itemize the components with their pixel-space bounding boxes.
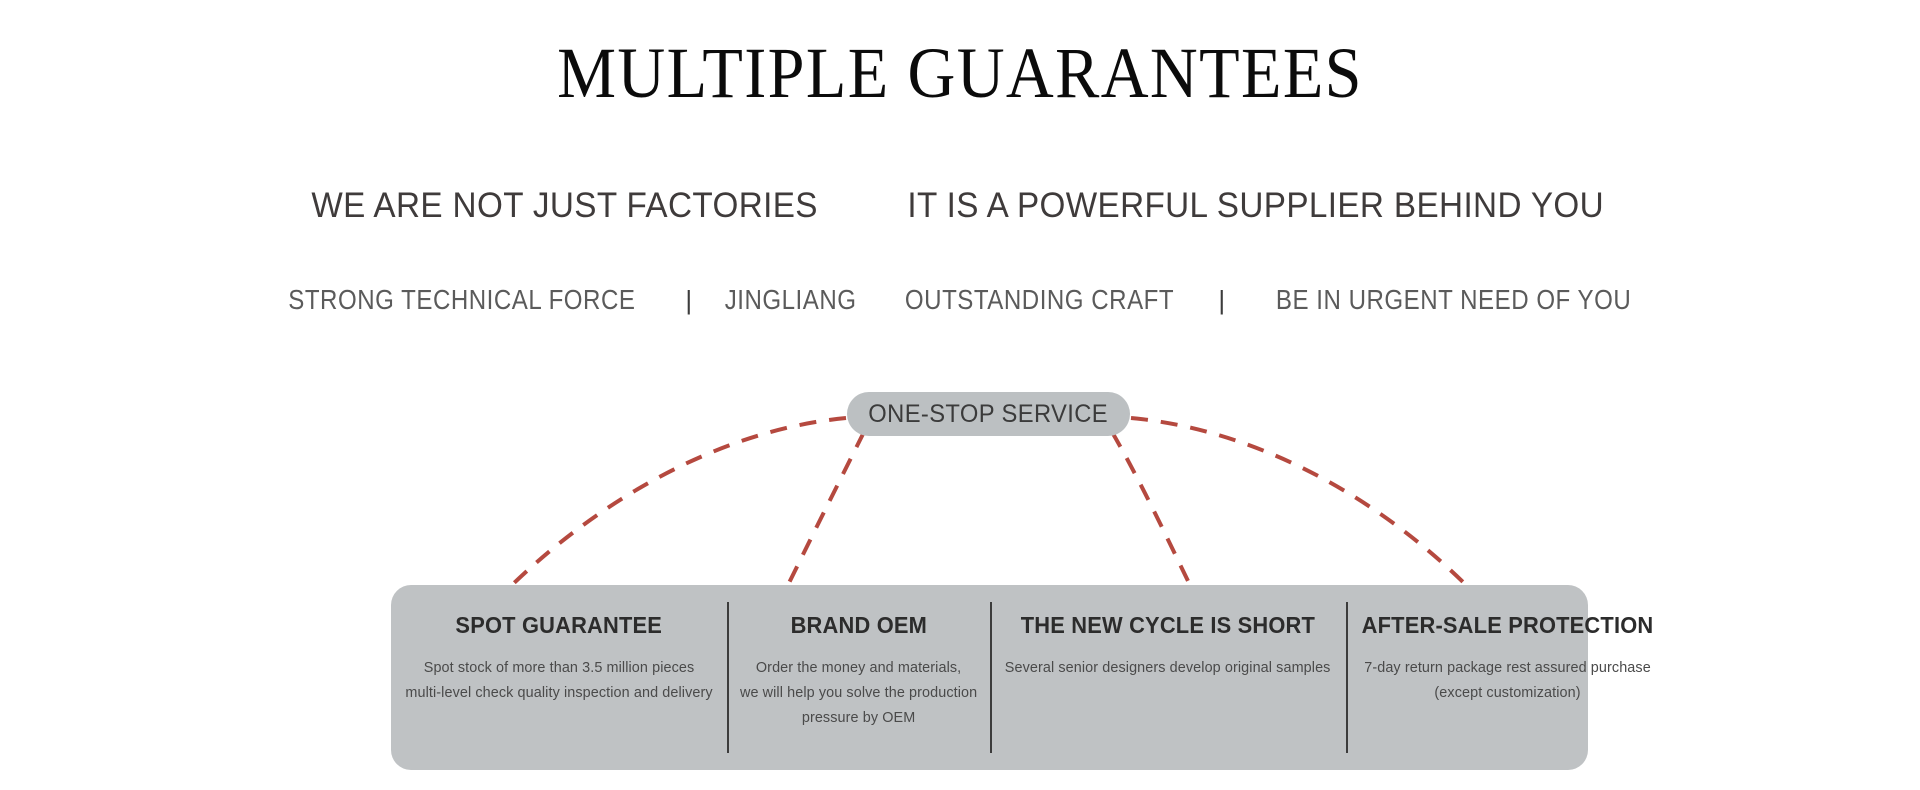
connector-path-2 — [788, 432, 864, 585]
column-body: Order the money and materials, we will h… — [735, 655, 982, 730]
guarantee-column-after-sale: AFTER-SALE PROTECTION 7-day return packa… — [1346, 585, 1669, 770]
column-body: Several senior designers develop origina… — [998, 655, 1337, 680]
column-body-line: Spot stock of more than 3.5 million piec… — [405, 655, 712, 680]
guarantee-column-spot: SPOT GUARANTEE Spot stock of more than 3… — [391, 585, 727, 770]
column-title: AFTER-SALE PROTECTION — [1361, 611, 1653, 639]
tagline-separator-2: | — [1196, 282, 1247, 318]
connector-path-3 — [1112, 432, 1190, 585]
subtitle-row: WE ARE NOT JUST FACTORIES IT IS A POWERF… — [0, 185, 1920, 227]
column-body: 7-day return package rest assured purcha… — [1354, 655, 1661, 705]
column-body-line: we will help you solve the production — [740, 680, 977, 705]
one-stop-service-label: ONE-STOP SERVICE — [869, 400, 1109, 429]
infographic-page: MULTIPLE GUARANTEES WE ARE NOT JUST FACT… — [0, 0, 1920, 790]
subtitle-left: WE ARE NOT JUST FACTORIES — [311, 185, 817, 227]
brand-name: JINGLIANG — [725, 282, 857, 318]
connector-path-1 — [512, 418, 846, 585]
column-body-line: 7-day return package rest assured purcha… — [1360, 655, 1655, 680]
connector-path-4 — [1131, 418, 1466, 585]
guarantee-column-new-cycle: THE NEW CYCLE IS SHORT Several senior de… — [990, 585, 1345, 770]
column-title: THE NEW CYCLE IS SHORT — [1021, 611, 1315, 639]
one-stop-service-node[interactable]: ONE-STOP SERVICE — [847, 392, 1130, 436]
guarantee-column-brand-oem: BRAND OEM Order the money and materials,… — [727, 585, 990, 770]
column-body: Spot stock of more than 3.5 million piec… — [399, 655, 719, 705]
column-title: BRAND OEM — [790, 611, 926, 639]
tagline-item-2: OUTSTANDING CRAFT — [905, 282, 1174, 318]
column-body-line: Several senior designers develop origina… — [1005, 655, 1331, 680]
subtitle-right: IT IS A POWERFUL SUPPLIER BEHIND YOU — [907, 185, 1604, 227]
tagline-separator-1: | — [663, 282, 714, 318]
column-title: SPOT GUARANTEE — [456, 611, 663, 639]
column-body-line: multi-level check quality inspection and… — [405, 680, 712, 705]
tagline-item-1: STRONG TECHNICAL FORCE — [288, 282, 635, 318]
tagline-row: STRONG TECHNICAL FORCE | JINGLIANG OUTST… — [0, 282, 1920, 318]
tagline-item-3: BE IN URGENT NEED OF YOU — [1276, 282, 1631, 318]
column-body-line: pressure by OEM — [740, 705, 977, 730]
column-body-line: Order the money and materials, — [740, 655, 977, 680]
guarantees-panel: SPOT GUARANTEE Spot stock of more than 3… — [391, 585, 1588, 770]
page-title: MULTIPLE GUARANTEES — [77, 30, 1843, 116]
column-body-line: (except customization) — [1360, 680, 1655, 705]
